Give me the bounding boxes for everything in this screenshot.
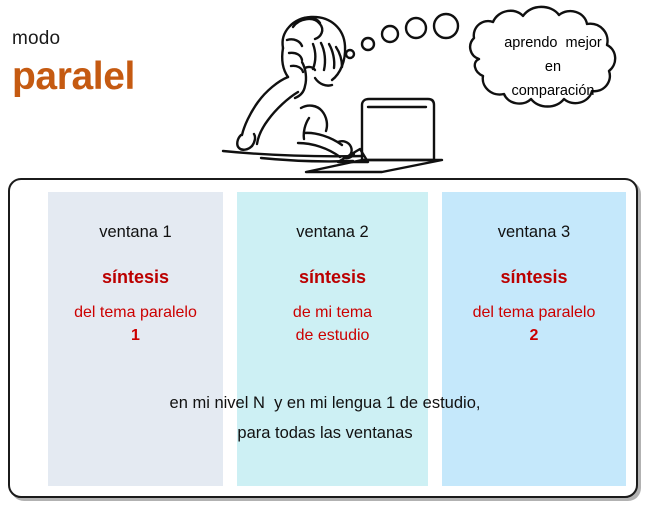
window-2-body-line-2: de estudio	[237, 324, 428, 347]
window-1-body: del tema paralelo 1	[48, 301, 223, 347]
window-column-2[interactable]: ventana 2 síntesis de mi tema de estudio	[237, 192, 428, 486]
thought-dot-3	[382, 26, 398, 42]
window-column-1[interactable]: ventana 1 síntesis del tema paralelo 1	[48, 192, 223, 486]
windows-columns: ventana 1 síntesis del tema paralelo 1 v…	[10, 180, 636, 496]
thought-bubble-line-3: comparación	[469, 79, 637, 103]
window-3-body-line-2: 2	[442, 324, 626, 347]
window-1-heading: síntesis	[48, 266, 223, 288]
thought-bubble-text: aprendo mejor en comparación	[469, 31, 637, 103]
window-1-body-line-2: 1	[48, 324, 223, 347]
window-column-3[interactable]: ventana 3 síntesis del tema paralelo 2	[442, 192, 626, 486]
thought-bubble-line-1: aprendo mejor	[469, 31, 637, 55]
window-2-label: ventana 2	[237, 222, 428, 242]
window-2-heading: síntesis	[237, 266, 428, 288]
window-3-heading: síntesis	[442, 266, 626, 288]
window-3-body: del tema paralelo 2	[442, 301, 626, 347]
window-1-body-line-1: del tema paralelo	[48, 301, 223, 324]
thought-bubble-line-2: en	[469, 55, 637, 79]
header-area: modo paralel	[0, 0, 657, 180]
window-2-body-line-1: de mi tema	[237, 301, 428, 324]
window-1-label: ventana 1	[48, 222, 223, 242]
window-3-label: ventana 3	[442, 222, 626, 242]
thought-dot-1	[346, 50, 354, 58]
window-3-body-line-1: del tema paralelo	[442, 301, 626, 324]
windows-frame: ventana 1 síntesis del tema paralelo 1 v…	[8, 178, 638, 498]
window-2-body: de mi tema de estudio	[237, 301, 428, 347]
thought-dot-4	[406, 18, 426, 38]
thought-dot-5	[434, 14, 458, 38]
thought-dot-2	[362, 38, 374, 50]
